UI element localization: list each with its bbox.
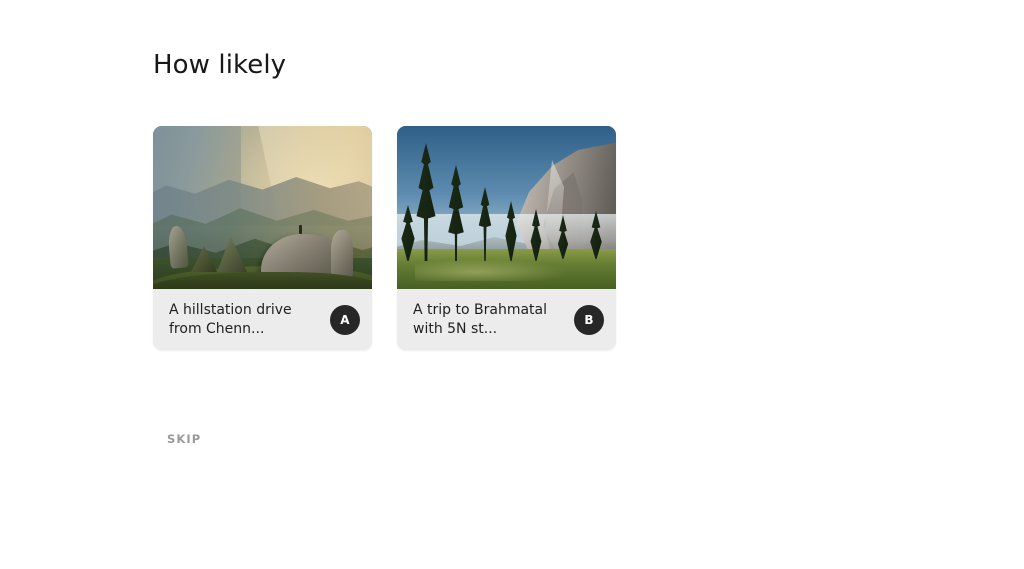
screen-root: How likely A [0,0,1024,569]
option-card-a-title: A hillstation drive from Chenn... [169,301,330,339]
image-vignette [153,126,372,289]
card-list: A hillstation drive from Chenn... A [153,126,616,350]
option-card-b-caption: A trip to Brahmatal with 5N st... B [397,289,616,350]
image-vignette [397,126,616,289]
option-card-a-caption: A hillstation drive from Chenn... A [153,289,372,350]
option-card-a[interactable]: A hillstation drive from Chenn... A [153,126,372,350]
option-card-b-image [397,126,616,289]
option-card-b-title: A trip to Brahmatal with 5N st... [413,301,574,339]
option-card-b-badge[interactable]: B [574,305,604,335]
page-title: How likely [153,48,286,82]
option-card-a-badge[interactable]: A [330,305,360,335]
option-card-a-image [153,126,372,289]
option-card-b[interactable]: A trip to Brahmatal with 5N st... B [397,126,616,350]
skip-button[interactable]: SKIP [165,428,203,450]
